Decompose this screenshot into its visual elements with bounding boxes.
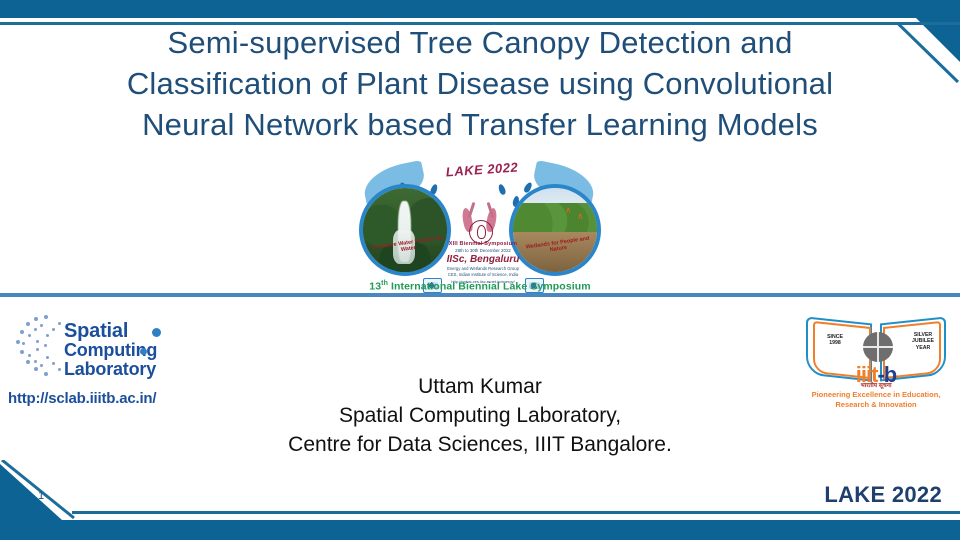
sclab-line-2: Computing <box>64 341 210 360</box>
symposium-line: XIII Biennial Symposium <box>435 241 531 247</box>
presentation-slide: Semi-supervised Tree Canopy Detection an… <box>0 0 960 540</box>
research-group-line-2: CES, Indian Institute of Science, India <box>435 272 531 277</box>
caption-ordinal: th <box>381 280 388 287</box>
caption-number: 13 <box>369 281 381 293</box>
iiitb-tagline: Pioneering Excellence in Education, Rese… <box>800 390 952 410</box>
title-line-2: Classification of Plant Disease using Co… <box>30 63 930 104</box>
brand-label: LAKE 2022 <box>824 482 942 508</box>
silver-jubilee-text: SILVER JUBILEE YEAR <box>904 332 942 351</box>
page-title: Semi-supervised Tree Canopy Detection an… <box>30 22 930 145</box>
spatial-computing-laboratory-logo[interactable]: Spatial Computing Laboratory http://scla… <box>6 308 206 408</box>
author-block: Uttam Kumar Spatial Computing Laboratory… <box>180 372 780 459</box>
symposium-date: 28th to 30th December 2022 <box>435 248 531 253</box>
conference-caption: 13th International Biennial Lake Symposi… <box>357 280 603 293</box>
sclab-wordmark: Spatial Computing Laboratory <box>64 322 210 379</box>
middle-divider-line <box>0 293 960 297</box>
research-group-line-1: Energy and Wetlands Research Group <box>435 266 531 271</box>
conference-logo: LAKE 2022 Conserve Water Forests for Wat… <box>357 162 603 294</box>
accent-dot-icon <box>152 328 161 337</box>
logo-headline: LAKE 2022 <box>417 157 548 181</box>
author-name: Uttam Kumar <box>180 372 780 401</box>
title-line-3: Neural Network based Transfer Learning M… <box>30 104 930 145</box>
iiit-bangalore-logo[interactable]: SINCE 1998 SILVER JUBILEE YEAR iiit-b भा… <box>800 318 952 414</box>
author-affiliation-2: Centre for Data Sciences, IIIT Bangalore… <box>180 430 780 459</box>
page-number: 1 <box>38 490 44 502</box>
sclab-url[interactable]: http://sclab.iiitb.ac.in/ <box>8 390 208 407</box>
title-line-1: Semi-supervised Tree Canopy Detection an… <box>30 22 930 63</box>
accent-dot-icon <box>140 348 147 355</box>
caption-rest: International Biennial Lake Symposium <box>388 281 591 293</box>
bottom-rule-line <box>72 511 960 514</box>
host-institution: IISc, Bengaluru <box>435 254 531 265</box>
since-text: SINCE 1998 <box>818 334 852 347</box>
top-band-decoration <box>0 0 960 18</box>
leaf-icon <box>497 183 506 195</box>
sclab-line-1: Spatial <box>64 322 210 341</box>
sphere-icon <box>863 332 893 362</box>
bottom-band-decoration <box>0 520 960 540</box>
iiitb-hindi-text: भारतीय सूचना <box>800 381 952 389</box>
author-affiliation-1: Spatial Computing Laboratory, <box>180 401 780 430</box>
